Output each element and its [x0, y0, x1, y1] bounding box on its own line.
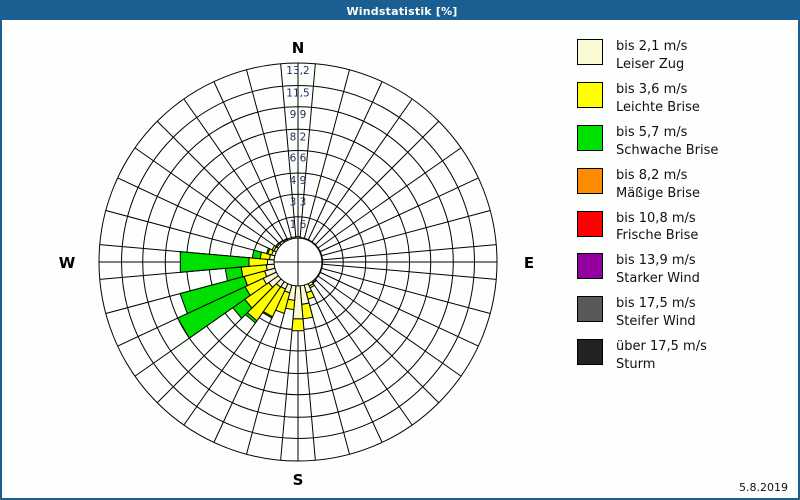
- legend-label: bis 2,1 m/sLeiser Zug: [616, 38, 687, 74]
- radial-tick-label: 9,9: [290, 109, 307, 121]
- legend-swatch: [577, 211, 603, 237]
- legend-item[interactable]: bis 17,5 m/sSteifer Wind: [577, 295, 792, 331]
- legend-swatch: [577, 168, 603, 194]
- legend-name-label: Steifer Wind: [616, 313, 696, 331]
- legend-name-label: Schwache Brise: [616, 142, 718, 160]
- grid-spoke: [321, 268, 490, 313]
- legend-item[interactable]: bis 10,8 m/sFrische Brise: [577, 210, 792, 246]
- legend-name-label: Mäßige Brise: [616, 185, 700, 203]
- legend-label: bis 13,9 m/sStarker Wind: [616, 252, 700, 288]
- wind-rose-petal: [291, 237, 295, 239]
- grid-spoke: [247, 70, 292, 239]
- wind-rose-petal: [292, 319, 304, 331]
- legend-swatch: [577, 82, 603, 108]
- legend-name-label: Sturm: [616, 356, 707, 374]
- legend-name-label: Frische Brise: [616, 227, 698, 245]
- wind-rose-svg: 1,63,34,96,68,29,911,513,2NSWE: [2, 20, 562, 500]
- grid-spoke: [321, 211, 490, 256]
- wind-rose-petal: [296, 237, 300, 238]
- wind-rose-petal: [322, 260, 323, 264]
- legend-item[interactable]: bis 2,1 m/sLeiser Zug: [577, 38, 792, 74]
- wind-rose-petal: [320, 252, 322, 256]
- legend-swatch: [577, 296, 603, 322]
- legend-label: über 17,5 m/sSturm: [616, 338, 707, 374]
- legend-swatch: [577, 339, 603, 365]
- legend-speed-label: bis 17,5 m/s: [616, 296, 696, 311]
- legend-label: bis 3,6 m/sLeichte Brise: [616, 81, 700, 117]
- radial-tick-label: 13,2: [286, 65, 309, 77]
- window-title-bar: Windstatistik [%]: [2, 2, 800, 20]
- wind-rose-petal: [300, 237, 304, 238]
- legend-item[interactable]: bis 5,7 m/sSchwache Brise: [577, 124, 792, 160]
- wind-rose-petal: [252, 250, 261, 259]
- grid-spoke: [315, 121, 439, 245]
- legend-name-label: Starker Wind: [616, 270, 700, 288]
- cardinal-label-s: S: [293, 471, 304, 489]
- cardinal-label-w: W: [59, 254, 76, 272]
- legend-label: bis 5,7 m/sSchwache Brise: [616, 124, 718, 160]
- grid-spoke: [320, 272, 479, 346]
- radial-tick-label: 4,9: [290, 175, 307, 187]
- wind-rose-petal: [321, 256, 322, 260]
- grid-spoke: [157, 121, 281, 245]
- radial-tick-label: 11,5: [286, 88, 309, 100]
- legend-swatch: [577, 125, 603, 151]
- petal-group: [178, 237, 323, 338]
- legend-speed-label: bis 3,6 m/s: [616, 82, 687, 97]
- legend-label: bis 10,8 m/sFrische Brise: [616, 210, 698, 246]
- legend-speed-label: bis 10,8 m/s: [616, 211, 696, 226]
- wind-rose-plot: 1,63,34,96,68,29,911,513,2NSWE: [2, 20, 562, 500]
- grid-spoke: [320, 178, 479, 252]
- wind-rose-petal: [321, 264, 322, 268]
- date-stamp: 5.8.2019: [739, 481, 788, 494]
- legend-item[interactable]: bis 8,2 m/sMäßige Brise: [577, 167, 792, 203]
- legend-name-label: Leiser Zug: [616, 56, 687, 74]
- legend-label: bis 17,5 m/sSteifer Wind: [616, 295, 696, 331]
- grid-spoke: [308, 82, 382, 241]
- legend-item[interactable]: bis 3,6 m/sLeichte Brise: [577, 81, 792, 117]
- radial-tick-label: 3,3: [290, 196, 307, 208]
- cardinal-label-n: N: [292, 39, 305, 57]
- grid-spoke: [304, 70, 349, 239]
- legend-label: bis 8,2 m/sMäßige Brise: [616, 167, 700, 203]
- grid-spoke: [315, 279, 439, 403]
- radial-tick-label: 8,2: [290, 131, 307, 143]
- window-title: Windstatistik [%]: [346, 5, 457, 18]
- grid-spoke: [118, 178, 277, 252]
- legend-speed-label: bis 8,2 m/s: [616, 168, 687, 183]
- legend-speed-label: bis 13,9 m/s: [616, 253, 696, 268]
- grid-spoke: [106, 211, 275, 256]
- legend-name-label: Leichte Brise: [616, 99, 700, 117]
- legend-item[interactable]: über 17,5 m/sSturm: [577, 338, 792, 374]
- windstatistik-window: Windstatistik [%] 1,63,34,96,68,29,911,5…: [0, 0, 800, 500]
- grid-spoke: [214, 82, 288, 241]
- legend-speed-label: über 17,5 m/s: [616, 339, 707, 354]
- legend-item[interactable]: bis 13,9 m/sStarker Wind: [577, 252, 792, 288]
- grid-spoke: [308, 284, 382, 443]
- radial-tick-label: 1,6: [290, 219, 307, 231]
- legend-swatch: [577, 39, 603, 65]
- legend-speed-label: bis 2,1 m/s: [616, 39, 687, 54]
- legend: bis 2,1 m/sLeiser Zugbis 3,6 m/sLeichte …: [577, 38, 792, 381]
- legend-swatch: [577, 253, 603, 279]
- radial-tick-label: 6,6: [290, 153, 307, 165]
- polar-grid: [99, 63, 497, 461]
- cardinal-label-e: E: [524, 254, 534, 272]
- legend-speed-label: bis 5,7 m/s: [616, 125, 687, 140]
